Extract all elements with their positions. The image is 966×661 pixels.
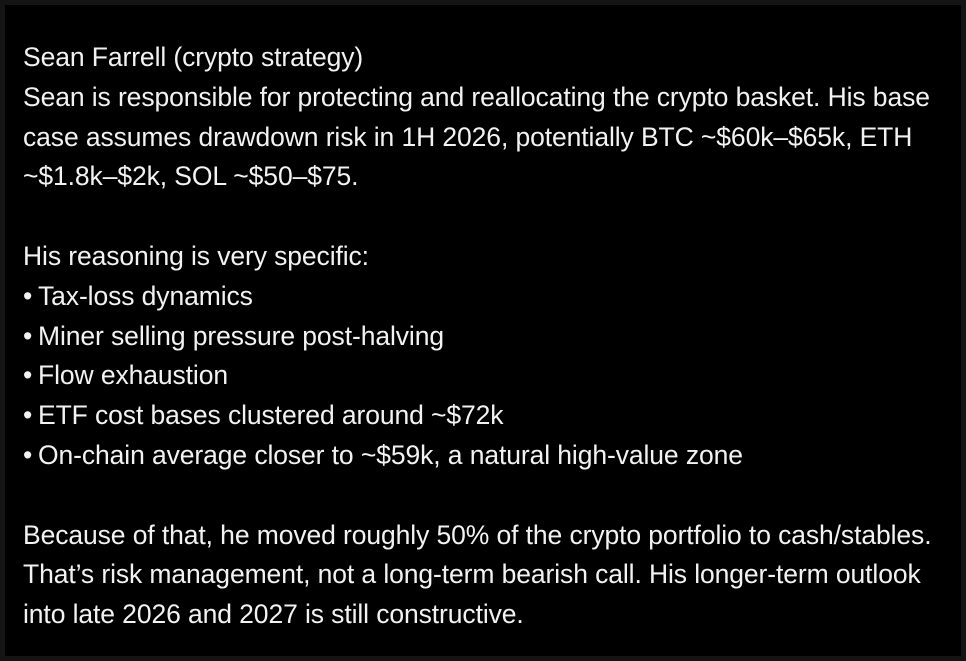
list-item-label: Tax-loss dynamics xyxy=(38,277,941,317)
list-item-label: Miner selling pressure post-halving xyxy=(38,317,941,357)
bullet-icon: • xyxy=(23,277,38,317)
list-item-label: On-chain average closer to ~$59k, a natu… xyxy=(38,436,941,476)
reasoning-lead-in: His reasoning is very specific: xyxy=(23,237,941,277)
conclusion-paragraph: Because of that, he moved roughly 50% of… xyxy=(23,516,941,635)
reasoning-bullet-list: • Tax-loss dynamics • Miner selling pres… xyxy=(23,277,941,476)
bullet-icon: • xyxy=(23,317,38,357)
list-item: • Tax-loss dynamics xyxy=(23,277,941,317)
list-item-label: ETF cost bases clustered around ~$72k xyxy=(38,396,941,436)
bullet-icon: • xyxy=(23,356,38,396)
paragraph-spacer-2 xyxy=(23,476,941,516)
note-heading: Sean Farrell (crypto strategy) xyxy=(23,38,941,78)
note-surface: Sean Farrell (crypto strategy) Sean is r… xyxy=(5,5,961,656)
list-item: • ETF cost bases clustered around ~$72k xyxy=(23,396,941,436)
intro-paragraph: Sean is responsible for protecting and r… xyxy=(23,78,941,197)
list-item: • On-chain average closer to ~$59k, a na… xyxy=(23,436,941,476)
paragraph-spacer-1 xyxy=(23,197,941,237)
list-item-label: Flow exhaustion xyxy=(38,356,941,396)
list-item: • Miner selling pressure post-halving xyxy=(23,317,941,357)
list-item: • Flow exhaustion xyxy=(23,356,941,396)
bullet-icon: • xyxy=(23,436,38,476)
note-frame: Sean Farrell (crypto strategy) Sean is r… xyxy=(0,0,966,661)
bullet-icon: • xyxy=(23,396,38,436)
